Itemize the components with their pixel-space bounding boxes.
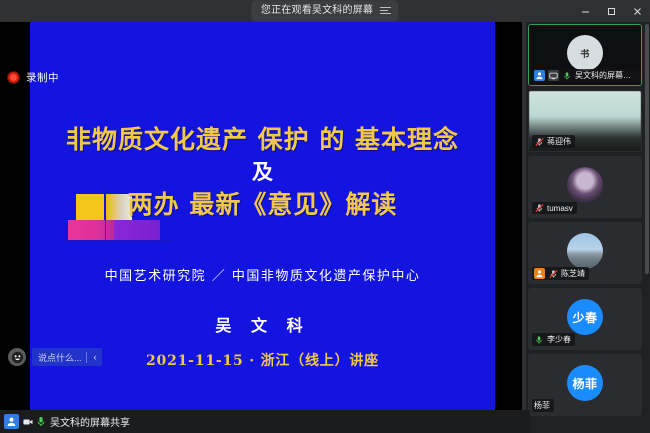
avatar: [567, 167, 603, 203]
person-icon: [534, 70, 545, 81]
avatar: 书: [567, 35, 603, 71]
mic-muted-icon: [534, 203, 544, 213]
participant-name: 杨菲: [534, 400, 550, 411]
participant-tile[interactable]: 杨菲杨菲: [528, 354, 642, 416]
screen-icon: [548, 70, 559, 81]
chat-divider: [86, 352, 87, 363]
participant-tile[interactable]: 陈芝靖: [528, 222, 642, 284]
mic-icon: [36, 417, 46, 427]
participant-name-badge: tumasv: [532, 202, 577, 214]
participant-name-badge: 吴文科的屏幕共享: [532, 69, 642, 82]
chat-input-placeholder: 说点什么...: [38, 351, 82, 364]
mic-icon: [562, 71, 572, 81]
participant-tile-list[interactable]: 书吴文科的屏幕共享蒋迎伟tumasv陈芝靖少春李少春杨菲杨菲: [528, 24, 644, 429]
participant-name-badge: 陈芝靖: [532, 267, 589, 280]
slide-title-line2: 两办 最新《意见》解读: [30, 185, 495, 221]
floating-chat-bar[interactable]: 说点什么... ‹: [8, 348, 102, 366]
minimize-icon[interactable]: [572, 0, 598, 22]
mic-icon: [534, 335, 544, 345]
participant-tile[interactable]: 蒋迎伟: [528, 90, 642, 152]
participant-tile[interactable]: 少春李少春: [528, 288, 642, 350]
close-icon[interactable]: [624, 0, 650, 22]
participant-name-badge: 杨菲: [532, 399, 554, 412]
camera-icon: [23, 417, 33, 427]
participant-name-badge: 李少春: [532, 333, 575, 346]
hamburger-icon[interactable]: [380, 7, 391, 14]
window-controls: [572, 0, 650, 22]
recording-label: 录制中: [26, 70, 59, 85]
avatar: [567, 233, 603, 269]
panel-scrollbar[interactable]: [645, 24, 649, 429]
participant-name: 李少春: [547, 334, 571, 345]
shared-screen-stage[interactable]: 非物质文化遗产 保护 的 基本理念 及 两办 最新《意见》解读 中国艺术研究院 …: [0, 22, 522, 410]
recording-indicator[interactable]: 录制中: [8, 70, 59, 85]
bottom-bar-label: 吴文科的屏幕共享: [50, 414, 130, 429]
participant-name: 蒋迎伟: [547, 136, 571, 147]
participant-name: 吴文科的屏幕共享: [575, 70, 638, 81]
bottom-status-bar: 吴文科的屏幕共享: [0, 410, 530, 433]
participant-name: tumasv: [547, 204, 573, 213]
slide-speaker-name: 吴 文 科: [30, 312, 495, 336]
chat-collapse-icon[interactable]: ‹: [91, 352, 100, 362]
person-icon: [534, 268, 545, 279]
slide-conjunction: 及: [30, 156, 495, 186]
avatar: 少春: [567, 299, 603, 335]
viewing-screen-pill[interactable]: 您正在观看吴文科的屏幕: [252, 1, 398, 21]
bottom-bar-icons: [23, 417, 46, 427]
participant-tile[interactable]: 书吴文科的屏幕共享: [528, 24, 642, 86]
emoji-smile-icon[interactable]: [8, 348, 26, 366]
avatar: 杨菲: [567, 365, 603, 401]
participant-name: 陈芝靖: [561, 268, 585, 279]
panel-scrollbar-thumb[interactable]: [645, 24, 649, 274]
recording-dot-icon: [8, 72, 19, 83]
slide-organization: 中国艺术研究院 ／ 中国非物质文化遗产保护中心: [30, 265, 495, 284]
participant-name-badge: 蒋迎伟: [532, 135, 575, 148]
zoom-meeting-window: 您正在观看吴文科的屏幕 非物质文化遗: [0, 0, 650, 433]
maximize-icon[interactable]: [598, 0, 624, 22]
mic-muted-icon: [534, 137, 544, 147]
mic-muted-icon: [548, 269, 558, 279]
chat-input[interactable]: 说点什么... ‹: [32, 348, 102, 366]
slide-title-line1: 非物质文化遗产 保护 的 基本理念: [30, 120, 495, 156]
title-bar: 您正在观看吴文科的屏幕: [0, 0, 650, 22]
participant-tile[interactable]: tumasv: [528, 156, 642, 218]
window-title: 您正在观看吴文科的屏幕: [261, 4, 373, 18]
participant-panel: 书吴文科的屏幕共享蒋迎伟tumasv陈芝靖少春李少春杨菲杨菲: [526, 22, 650, 433]
person-icon: [4, 414, 19, 429]
